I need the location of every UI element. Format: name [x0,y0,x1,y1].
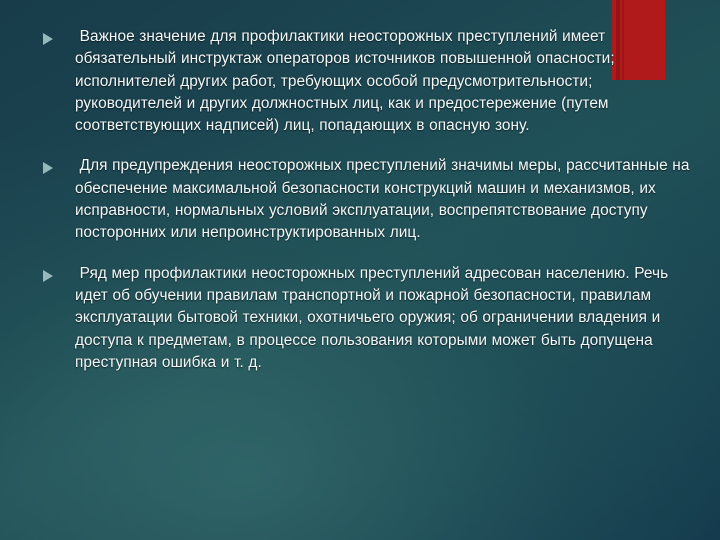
bullet-paragraph-2-text: Для предупреждения неосторожных преступл… [75,155,702,244]
slide-canvas: Важное значение для профилактики неостор… [0,0,720,540]
triangle-right-icon [43,33,53,45]
triangle-right-icon [43,270,53,282]
bullet-paragraph-1: Важное значение для профилактики неостор… [0,26,720,137]
bullet-paragraph-2: Для предупреждения неосторожных преступл… [0,155,720,244]
bullet-paragraph-3-text: Ряд мер профилактики неосторожных престу… [75,263,702,374]
bullet-paragraph-1-text: Важное значение для профилактики неостор… [75,26,702,137]
triangle-right-icon [43,162,53,174]
bullet-paragraph-3: Ряд мер профилактики неосторожных престу… [0,263,720,374]
slide-body-content: Важное значение для профилактики неостор… [0,26,720,392]
